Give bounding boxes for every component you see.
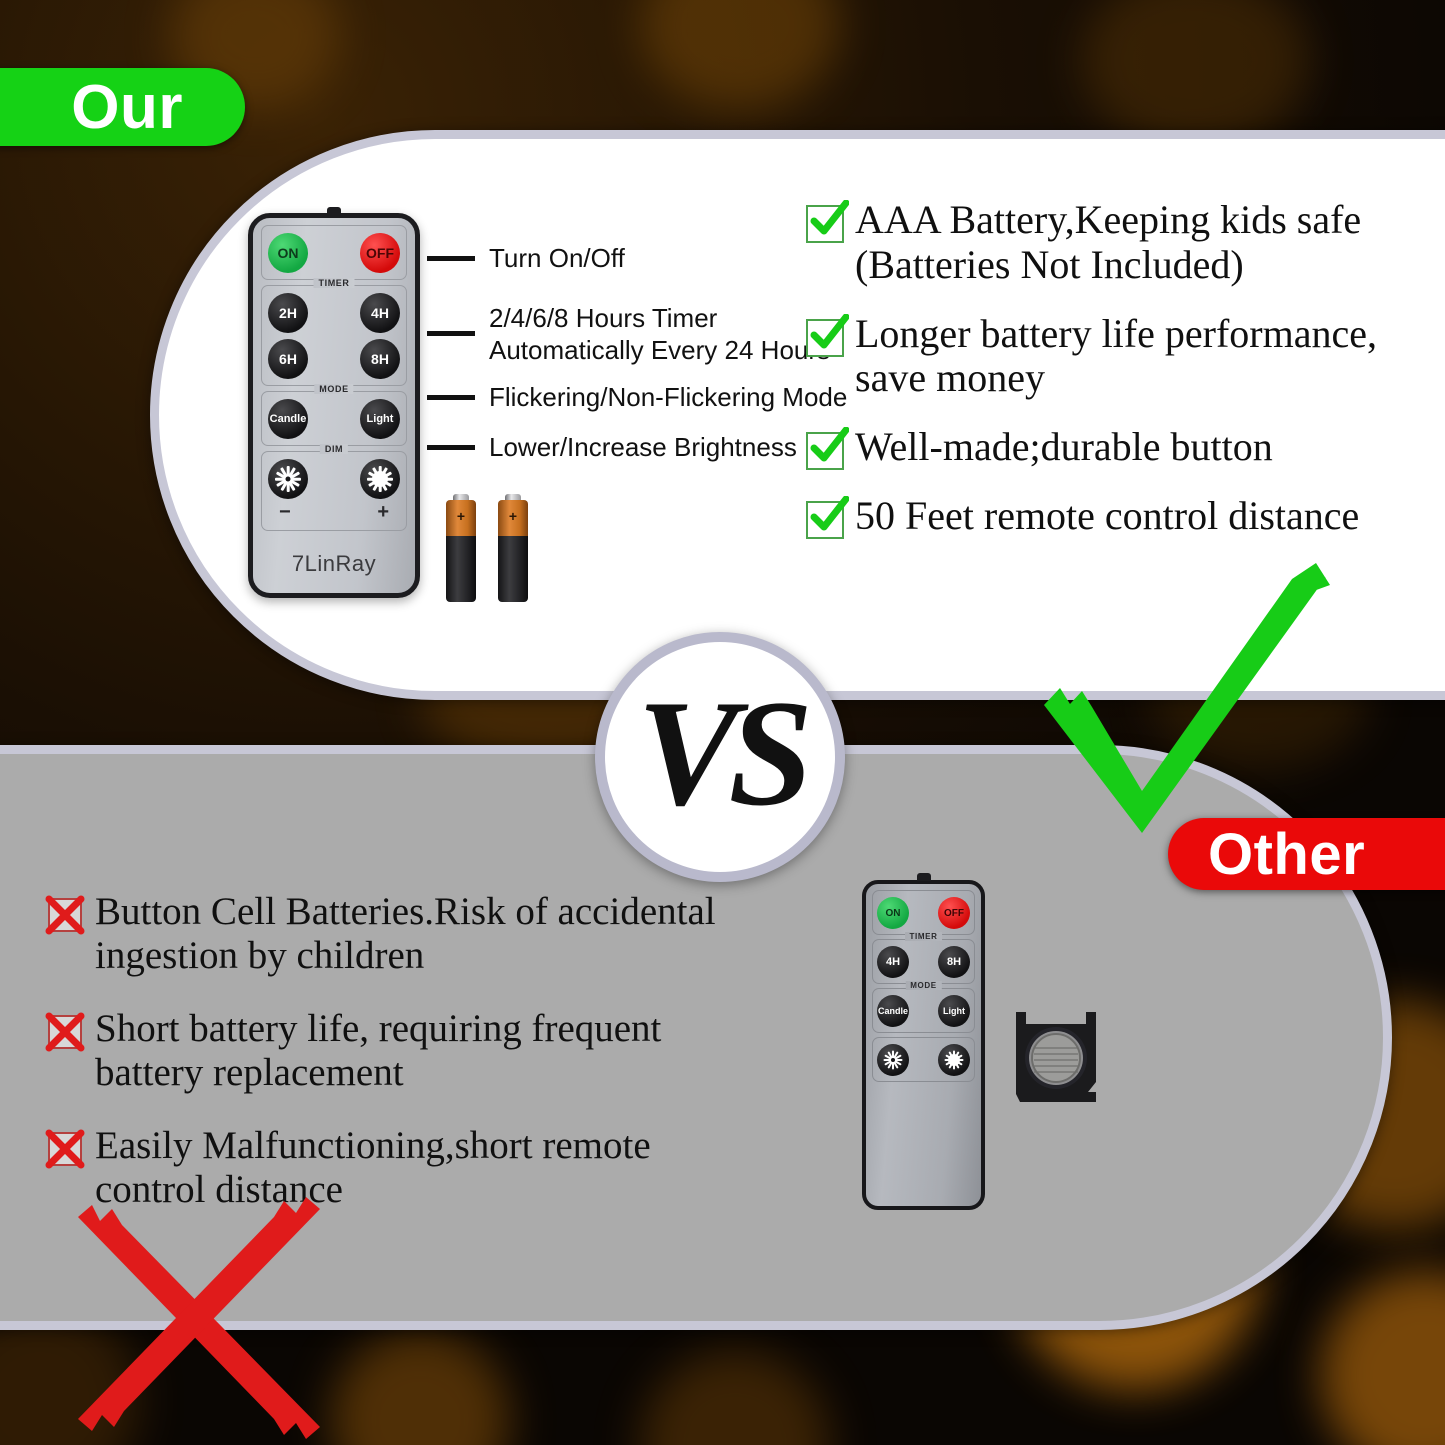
- callout-label: Turn On/Off: [489, 243, 625, 275]
- timer-8h-button[interactable]: 8H: [360, 339, 400, 379]
- check-icon: [806, 432, 844, 470]
- battery-polarity-label: +: [446, 509, 476, 523]
- dim-group: DIM: [261, 451, 407, 531]
- timer-4h-button[interactable]: 4H: [360, 293, 400, 333]
- callout-label: Flickering/Non-Flickering Mode: [489, 382, 847, 414]
- aaa-battery: +: [446, 500, 476, 600]
- aaa-battery: +: [498, 500, 528, 600]
- timer-group-label: TIMER: [314, 278, 355, 288]
- timer-8h-button[interactable]: 8H: [938, 946, 970, 978]
- callout-mode: Flickering/Non-Flickering Mode: [427, 382, 847, 414]
- list-item: Button Cell Batteries.Risk of accidental…: [48, 890, 788, 979]
- callout-leader-line: [427, 445, 475, 450]
- cross-icon: [48, 1015, 82, 1049]
- on-button[interactable]: ON: [268, 233, 308, 273]
- big-green-check-icon: [1030, 555, 1360, 845]
- on-button[interactable]: ON: [877, 897, 909, 929]
- sun-dim-icon: [884, 1051, 903, 1070]
- timer-group: TIMER 2H 4H 6H 8H: [261, 285, 407, 386]
- big-red-x-icon: [70, 1195, 340, 1440]
- off-button[interactable]: OFF: [938, 897, 970, 929]
- off-button[interactable]: OFF: [360, 233, 400, 273]
- list-item: 50 Feet remote control distance: [806, 494, 1436, 539]
- timer-group: TIMER 4H 8H: [872, 939, 975, 984]
- callout-label: 2/4/6/8 Hours Timer Automatically Every …: [489, 303, 830, 366]
- mode-group-label: MODE: [314, 384, 353, 394]
- vs-badge: VS: [595, 632, 845, 882]
- aaa-batteries: + +: [446, 500, 528, 600]
- infographic-stage: ON OFF TIMER 2H 4H 6H 8H MODE Candle Lig…: [0, 0, 1445, 1445]
- cross-icon: [48, 898, 82, 932]
- light-mode-button[interactable]: Light: [360, 399, 400, 439]
- ir-emitter-nub: [917, 873, 931, 881]
- light-mode-button[interactable]: Light: [938, 995, 970, 1027]
- list-item: Longer battery life performance, save mo…: [806, 312, 1436, 402]
- battery-polarity-label: +: [498, 509, 528, 523]
- drawback-text: Short battery life, requiring frequent b…: [95, 1007, 661, 1096]
- list-item: AAA Battery,Keeping kids safe (Batteries…: [806, 198, 1436, 288]
- drawback-list: Button Cell Batteries.Risk of accidental…: [48, 890, 788, 1241]
- dim-up-button[interactable]: [938, 1044, 970, 1076]
- callout-leader-line: [427, 331, 475, 336]
- drawback-text: Button Cell Batteries.Risk of accidental…: [95, 890, 716, 979]
- check-icon: [806, 205, 844, 243]
- feature-text: Well-made;durable button: [855, 425, 1273, 470]
- dim-minus-label: −: [279, 501, 291, 524]
- check-icon: [806, 319, 844, 357]
- check-icon: [806, 501, 844, 539]
- callout-leader-line: [427, 256, 475, 261]
- dim-plus-label: +: [377, 501, 389, 524]
- cross-icon: [48, 1132, 82, 1166]
- remote-brand-label: 7LinRay: [253, 551, 415, 577]
- vs-label: VS: [637, 677, 803, 829]
- timer-6h-button[interactable]: 6H: [268, 339, 308, 379]
- feature-text: AAA Battery,Keeping kids safe (Batteries…: [855, 198, 1361, 288]
- timer-group-label: TIMER: [905, 932, 943, 941]
- feature-text: 50 Feet remote control distance: [855, 494, 1359, 539]
- dim-down-button[interactable]: [268, 459, 308, 499]
- candle-mode-button[interactable]: Candle: [877, 995, 909, 1027]
- dim-group-label: DIM: [320, 444, 348, 454]
- dim-down-button[interactable]: [877, 1044, 909, 1076]
- mode-group: MODE Candle Light: [872, 988, 975, 1033]
- timer-4h-button[interactable]: 4H: [877, 946, 909, 978]
- other-remote-control: ON OFF TIMER 4H 8H MODE Candle Light: [862, 880, 985, 1210]
- sun-bright-icon: [367, 466, 393, 492]
- mode-group-label: MODE: [905, 981, 941, 990]
- power-group: ON OFF: [872, 890, 975, 935]
- mode-group: MODE Candle Light: [261, 391, 407, 446]
- feature-list: AAA Battery,Keeping kids safe (Batteries…: [806, 198, 1436, 563]
- callout-dim: Lower/Increase Brightness: [427, 432, 797, 464]
- our-badge-label: Our: [71, 72, 183, 143]
- list-item: Short battery life, requiring frequent b…: [48, 1007, 788, 1096]
- callout-timer: 2/4/6/8 Hours Timer Automatically Every …: [427, 303, 830, 366]
- dim-group: [872, 1037, 975, 1082]
- power-group: ON OFF: [261, 225, 407, 280]
- ir-emitter-nub: [327, 207, 341, 215]
- callout-power: Turn On/Off: [427, 243, 625, 275]
- sun-bright-icon: [945, 1051, 964, 1070]
- sun-dim-icon: [275, 466, 301, 492]
- our-remote-control: ON OFF TIMER 2H 4H 6H 8H MODE Candle Lig…: [248, 213, 420, 598]
- callout-leader-line: [427, 395, 475, 400]
- dim-up-button[interactable]: [360, 459, 400, 499]
- callout-label: Lower/Increase Brightness: [489, 432, 797, 464]
- feature-text: Longer battery life performance, save mo…: [855, 312, 1377, 402]
- our-badge: Our: [0, 68, 245, 146]
- coin-cell-battery-holder: [1010, 1008, 1102, 1113]
- list-item: Well-made;durable button: [806, 425, 1436, 470]
- candle-mode-button[interactable]: Candle: [268, 399, 308, 439]
- timer-2h-button[interactable]: 2H: [268, 293, 308, 333]
